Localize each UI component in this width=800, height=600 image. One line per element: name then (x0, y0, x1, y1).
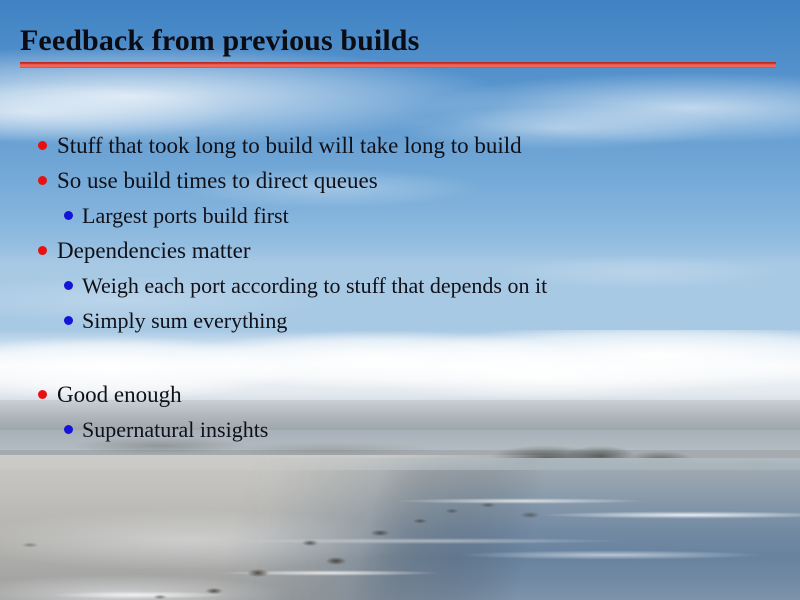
bullet-item: Supernatural insights (0, 412, 800, 447)
presentation-slide: Feedback from previous builds Stuff that… (0, 0, 800, 600)
bullet-dot-blue (64, 281, 73, 290)
bullet-item: Good enough (0, 377, 800, 412)
bullet-spacer (0, 338, 800, 377)
bullet-dot-red (38, 141, 47, 150)
bullet-dot-blue (64, 316, 73, 325)
bullet-label: Stuff that took long to build will take … (57, 133, 522, 158)
shoreline-debris (0, 455, 800, 600)
bullet-item: So use build times to direct queues (0, 163, 800, 198)
bullet-dot-red (38, 176, 47, 185)
bullet-dot-red (38, 246, 47, 255)
bullet-label: Dependencies matter (57, 238, 251, 263)
bullet-dot-blue (64, 211, 73, 220)
bullet-label: Supernatural insights (82, 417, 268, 442)
bullet-item: Largest ports build first (0, 198, 800, 233)
slide-bullet-list: Stuff that took long to build will take … (0, 128, 800, 447)
bullet-dot-red (38, 390, 47, 399)
bullet-item: Simply sum everything (0, 303, 800, 338)
bullet-label: Weigh each port according to stuff that … (82, 273, 547, 298)
title-underline-rule (20, 62, 776, 68)
slide-title: Feedback from previous builds (20, 24, 419, 58)
bullet-item: Weigh each port according to stuff that … (0, 268, 800, 303)
bullet-item: Dependencies matter (0, 233, 800, 268)
bullet-label: So use build times to direct queues (57, 168, 378, 193)
bullet-label: Largest ports build first (82, 203, 289, 228)
bullet-label: Good enough (57, 382, 182, 407)
bullet-label: Simply sum everything (82, 308, 287, 333)
bullet-dot-blue (64, 425, 73, 434)
bullet-item: Stuff that took long to build will take … (0, 128, 800, 163)
